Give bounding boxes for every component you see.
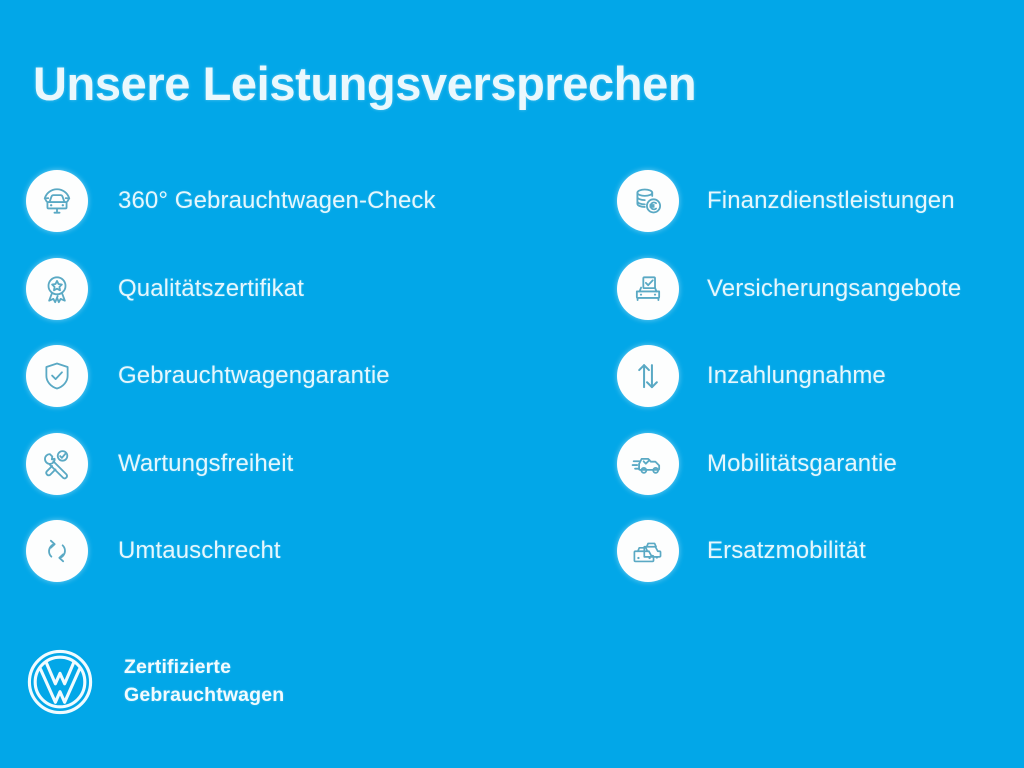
benefit-item[interactable]: Finanzdienstleistungen (617, 170, 1017, 232)
benefit-item[interactable]: Umtauschrecht (26, 520, 586, 582)
benefit-item[interactable]: Versicherungsangebote (617, 258, 1017, 320)
shield-check-icon (26, 345, 88, 407)
benefit-item[interactable]: Mobilitätsgarantie (617, 433, 1017, 495)
tow-truck-icon (617, 433, 679, 495)
benefit-label: Gebrauchtwagengarantie (118, 362, 390, 390)
benefit-item[interactable]: 360° Gebrauchtwagen-Check (26, 170, 586, 232)
award-rosette-icon (26, 258, 88, 320)
benefits-column-left: 360° Gebrauchtwagen-Check Qualitätszerti… (26, 170, 586, 608)
car-document-check-icon (617, 258, 679, 320)
benefit-item[interactable]: Gebrauchtwagengarantie (26, 345, 586, 407)
benefit-label: Ersatzmobilität (707, 537, 866, 565)
brand-text-line-1: Zertifizierte (124, 654, 284, 682)
benefit-label: Mobilitätsgarantie (707, 450, 897, 478)
benefit-label: 360° Gebrauchtwagen-Check (118, 187, 436, 215)
benefit-item[interactable]: Ersatzmobilität (617, 520, 1017, 582)
benefit-label: Inzahlungnahme (707, 362, 886, 390)
exchange-arrows-icon (26, 520, 88, 582)
benefit-label: Finanzdienstleistungen (707, 187, 955, 215)
brand-lockup: Zertifizierte Gebrauchtwagen (26, 648, 284, 716)
page-title: Unsere Leistungsversprechen (33, 58, 696, 110)
brand-text: Zertifizierte Gebrauchtwagen (124, 654, 284, 709)
benefit-item[interactable]: Wartungsfreiheit (26, 433, 586, 495)
wrench-screwdriver-icon (26, 433, 88, 495)
volkswagen-logo-icon (26, 648, 94, 716)
arrows-up-down-icon (617, 345, 679, 407)
benefits-column-right: Finanzdienstleistungen Versicheru (617, 170, 1017, 608)
benefit-label: Versicherungsangebote (707, 275, 961, 303)
promise-slide: Unsere Leistungsversprechen (0, 0, 1024, 768)
benefit-label: Umtauschrecht (118, 537, 281, 565)
coins-euro-icon (617, 170, 679, 232)
benefit-item[interactable]: Qualitätszertifikat (26, 258, 586, 320)
benefit-label: Wartungsfreiheit (118, 450, 293, 478)
two-cars-icon (617, 520, 679, 582)
car-inspection-icon (26, 170, 88, 232)
brand-text-line-2: Gebrauchtwagen (124, 682, 284, 710)
benefit-label: Qualitätszertifikat (118, 275, 304, 303)
benefit-item[interactable]: Inzahlungnahme (617, 345, 1017, 407)
